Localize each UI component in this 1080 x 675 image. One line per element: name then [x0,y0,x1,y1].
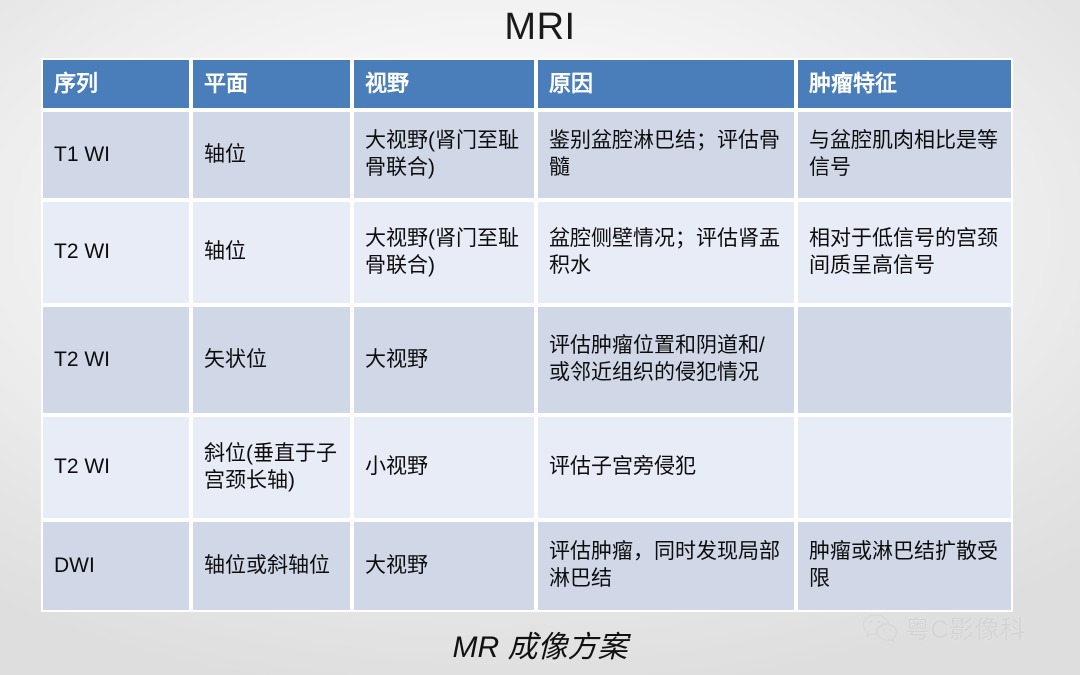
column-header-plane: 平面 [191,58,352,110]
table-row: T1 WI 轴位 大视野(肾门至耻骨联合) 鉴别盆腔淋巴结；评估骨髓 与盆腔肌肉… [41,110,1013,200]
cell-reason: 鉴别盆腔淋巴结；评估骨髓 [536,110,796,200]
cell-tumor: 相对于低信号的宫颈间质呈高信号 [796,200,1013,305]
cell-plane: 轴位 [191,110,352,200]
cell-fov: 大视野 [352,520,536,612]
cell-plane: 斜位(垂直于子宫颈长轴) [191,415,352,520]
cell-plane: 轴位或斜轴位 [191,520,352,612]
cell-tumor: 与盆腔肌肉相比是等信号 [796,110,1013,200]
table-row: DWI 轴位或斜轴位 大视野 评估肿瘤，同时发现局部淋巴结 肿瘤或淋巴结扩散受限 [41,520,1013,612]
cell-sequence: T2 WI [41,200,191,305]
cell-fov: 大视野 [352,305,536,415]
cell-sequence: T2 WI [41,415,191,520]
cell-reason: 盆腔侧壁情况；评估肾盂积水 [536,200,796,305]
slide-caption: MR 成像方案 [0,622,1080,666]
table-header: 序列 平面 视野 原因 肿瘤特征 [41,58,1013,110]
column-header-sequence: 序列 [41,58,191,110]
cell-sequence: DWI [41,520,191,612]
cell-reason: 评估子宫旁侵犯 [536,415,796,520]
column-header-reason: 原因 [536,58,796,110]
cell-tumor: 肿瘤或淋巴结扩散受限 [796,520,1013,612]
table-header-row: 序列 平面 视野 原因 肿瘤特征 [41,58,1013,110]
cell-tumor [796,415,1013,520]
cell-fov: 小视野 [352,415,536,520]
mri-protocol-table: 序列 平面 视野 原因 肿瘤特征 T1 WI 轴位 大视野(肾门至耻骨联合) 鉴… [41,58,1013,612]
cell-reason: 评估肿瘤位置和阴道和/或邻近组织的侵犯情况 [536,305,796,415]
table-body: T1 WI 轴位 大视野(肾门至耻骨联合) 鉴别盆腔淋巴结；评估骨髓 与盆腔肌肉… [41,110,1013,612]
cell-fov: 大视野(肾门至耻骨联合) [352,200,536,305]
cell-tumor [796,305,1013,415]
cell-sequence: T1 WI [41,110,191,200]
cell-plane: 矢状位 [191,305,352,415]
cell-reason: 评估肿瘤，同时发现局部淋巴结 [536,520,796,612]
table-row: T2 WI 矢状位 大视野 评估肿瘤位置和阴道和/或邻近组织的侵犯情况 [41,305,1013,415]
cell-plane: 轴位 [191,200,352,305]
table-row: T2 WI 斜位(垂直于子宫颈长轴) 小视野 评估子宫旁侵犯 [41,415,1013,520]
column-header-fov: 视野 [352,58,536,110]
cell-sequence: T2 WI [41,305,191,415]
table-row: T2 WI 轴位 大视野(肾门至耻骨联合) 盆腔侧壁情况；评估肾盂积水 相对于低… [41,200,1013,305]
slide-canvas: MRI 序列 平面 视野 原因 肿瘤特征 T1 WI 轴位 大视野(肾门至耻骨联… [0,0,1080,675]
column-header-tumor: 肿瘤特征 [796,58,1013,110]
page-title: MRI [0,2,1080,52]
cell-fov: 大视野(肾门至耻骨联合) [352,110,536,200]
